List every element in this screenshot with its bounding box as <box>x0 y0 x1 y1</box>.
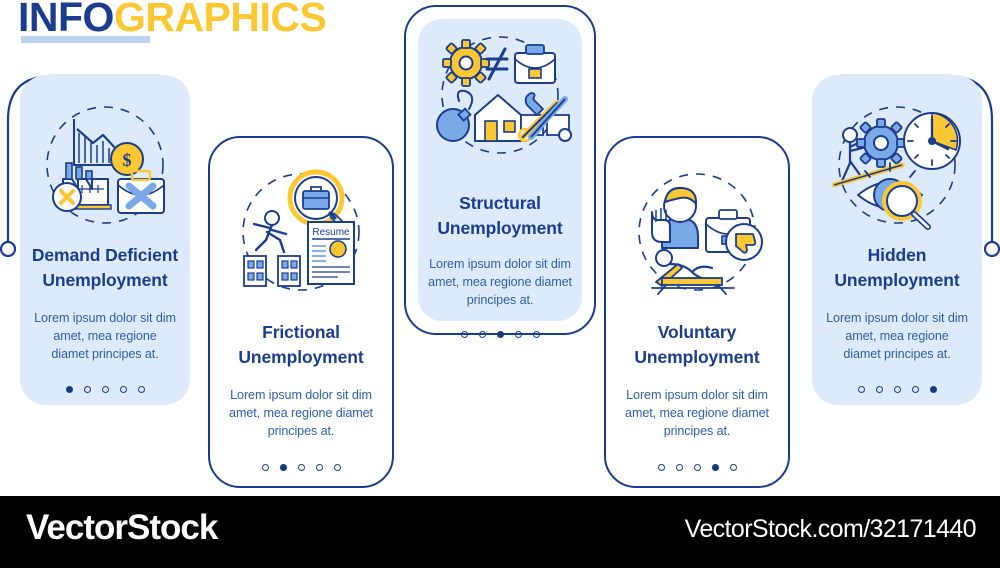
step-title-4: Voluntary Unemployment <box>606 320 788 370</box>
progress-dot[interactable] <box>676 464 683 471</box>
progress-dot[interactable] <box>858 386 865 393</box>
progress-dot[interactable] <box>712 464 719 471</box>
gear-house-tools-icon <box>425 27 575 177</box>
progress-dot[interactable] <box>262 464 269 471</box>
svg-text:$: $ <box>123 150 132 170</box>
step-description-1: Lorem ipsum dolor sit dim amet, mea regi… <box>20 309 190 363</box>
step-progress-dots-3[interactable] <box>461 331 540 338</box>
infographic-canvas: INFOGRAPHICS <box>0 0 1000 568</box>
step-title-3: Structural Unemployment <box>406 191 594 241</box>
refusing-person-relaxing-icon <box>622 160 772 310</box>
progress-dot[interactable] <box>479 331 486 338</box>
progress-dot[interactable] <box>280 464 287 471</box>
progress-dot[interactable] <box>138 386 145 393</box>
progress-dot[interactable] <box>912 386 919 393</box>
step-title-1: Demand Deficient Unemployment <box>20 243 190 293</box>
step-progress-dots-1[interactable] <box>66 386 145 393</box>
progress-dot[interactable] <box>334 464 341 471</box>
progress-dot[interactable] <box>298 464 305 471</box>
progress-dot[interactable] <box>658 464 665 471</box>
vectorstock-logo: VectorStock <box>26 508 217 548</box>
progress-dot[interactable] <box>533 331 540 338</box>
falling-chart-factory-briefcase-icon: $ <box>30 93 180 243</box>
page-header: INFOGRAPHICS <box>18 0 438 50</box>
step-card-2[interactable]: Resume Frictional Unemployment Lorem ips… <box>208 136 394 488</box>
step-progress-dots-4[interactable] <box>658 464 737 471</box>
progress-dot[interactable] <box>316 464 323 471</box>
gear-clock-eye-icon <box>822 93 972 243</box>
step-description-2: Lorem ipsum dolor sit dim amet, mea regi… <box>210 386 392 440</box>
vectorstock-url: VectorStock.com/32171440 <box>685 515 976 544</box>
job-search-resume-icon: Resume <box>226 160 376 310</box>
step-progress-dots-5[interactable] <box>858 386 937 393</box>
step-card-5[interactable]: Hidden Unemployment Lorem ipsum dolor si… <box>812 75 982 405</box>
progress-dot[interactable] <box>930 386 937 393</box>
progress-dot[interactable] <box>730 464 737 471</box>
progress-dot[interactable] <box>515 331 522 338</box>
step-card-4[interactable]: Voluntary Unemployment Lorem ipsum dolor… <box>604 136 790 488</box>
progress-dot[interactable] <box>84 386 91 393</box>
title-underline-bar <box>21 36 150 43</box>
progress-dot[interactable] <box>894 386 901 393</box>
page-title-part1: INFO <box>18 0 114 40</box>
progress-dot[interactable] <box>102 386 109 393</box>
page-title: INFOGRAPHICS <box>18 0 438 40</box>
step-description-4: Lorem ipsum dolor sit dim amet, mea regi… <box>606 386 788 440</box>
step-progress-dots-2[interactable] <box>262 464 341 471</box>
step-card-3[interactable]: Structural Unemployment Lorem ipsum dolo… <box>404 5 596 335</box>
progress-dot[interactable] <box>120 386 127 393</box>
step-title-2: Frictional Unemployment <box>210 320 392 370</box>
progress-dot[interactable] <box>876 386 883 393</box>
step-description-3: Lorem ipsum dolor sit dim amet, mea regi… <box>406 255 594 309</box>
watermark-footer: VectorStock VectorStock.com/32171440 <box>0 496 1000 568</box>
progress-dot[interactable] <box>694 464 701 471</box>
step-card-1[interactable]: $ <box>20 75 190 405</box>
progress-dot[interactable] <box>497 331 504 338</box>
progress-dot[interactable] <box>66 386 73 393</box>
progress-dot[interactable] <box>461 331 468 338</box>
step-title-5: Hidden Unemployment <box>812 243 982 293</box>
resume-label: Resume <box>312 227 350 238</box>
step-description-5: Lorem ipsum dolor sit dim amet, mea regi… <box>812 309 982 363</box>
page-title-part2: GRAPHICS <box>114 0 326 40</box>
